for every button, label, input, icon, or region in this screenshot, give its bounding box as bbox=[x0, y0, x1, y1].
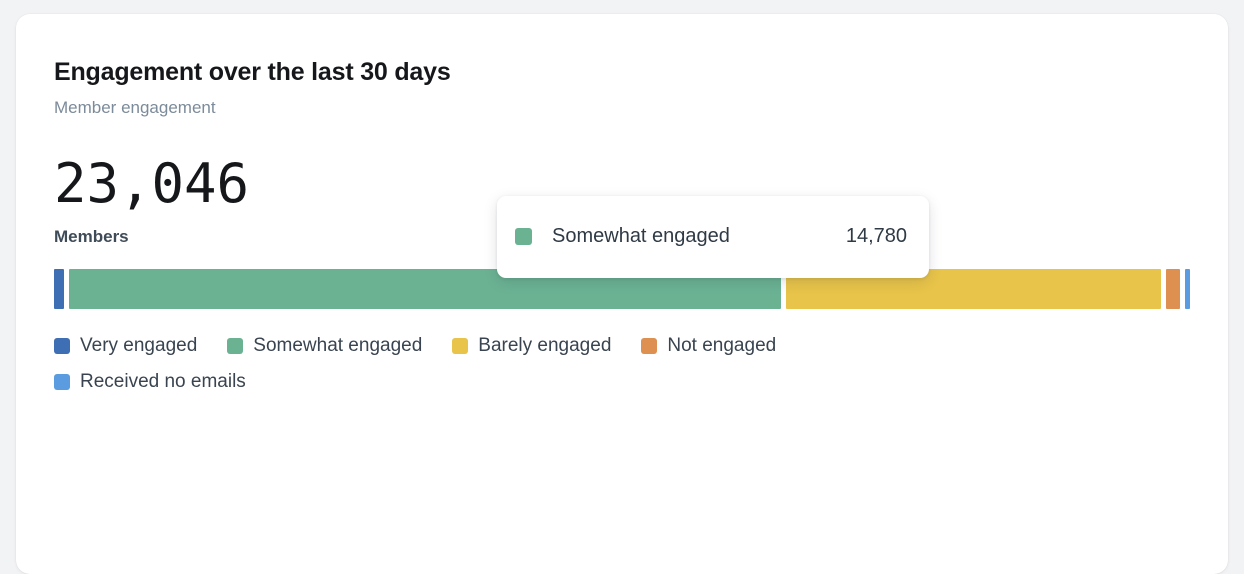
legend-item-somewhat-engaged[interactable]: Somewhat engaged bbox=[227, 335, 422, 357]
card-content: Engagement over the last 30 days Member … bbox=[16, 14, 1228, 574]
legend-color-swatch bbox=[227, 338, 243, 354]
legend-color-swatch bbox=[54, 338, 70, 354]
legend-item-not-engaged[interactable]: Not engaged bbox=[641, 335, 776, 357]
legend-item-very-engaged[interactable]: Very engaged bbox=[54, 335, 197, 357]
legend-item-label: Very engaged bbox=[80, 335, 197, 357]
tooltip-color-swatch bbox=[515, 228, 532, 245]
bar-segment-not-engaged[interactable] bbox=[1166, 269, 1180, 309]
card-subtitle: Member engagement bbox=[54, 98, 1190, 118]
bar-segment-received-no-emails[interactable] bbox=[1185, 269, 1190, 309]
page-title: Engagement over the last 30 days bbox=[54, 58, 1190, 87]
legend-item-label: Received no emails bbox=[80, 371, 246, 393]
legend-color-swatch bbox=[452, 338, 468, 354]
legend-item-received-no-emails[interactable]: Received no emails bbox=[54, 371, 246, 393]
legend-item-label: Not engaged bbox=[667, 335, 776, 357]
legend-color-swatch bbox=[641, 338, 657, 354]
tooltip-series-value: 14,780 bbox=[806, 225, 907, 248]
engagement-card: Engagement over the last 30 days Member … bbox=[16, 14, 1228, 574]
legend-item-label: Somewhat engaged bbox=[253, 335, 422, 357]
chart-tooltip: Somewhat engaged 14,780 bbox=[497, 196, 929, 278]
tooltip-series-label: Somewhat engaged bbox=[552, 225, 730, 248]
legend-item-barely-engaged[interactable]: Barely engaged bbox=[452, 335, 611, 357]
engagement-bar-chart: Somewhat engaged 14,780 bbox=[54, 269, 1183, 309]
legend-item-label: Barely engaged bbox=[478, 335, 611, 357]
legend-color-swatch bbox=[54, 374, 70, 390]
chart-legend: Very engagedSomewhat engagedBarely engag… bbox=[54, 335, 1014, 393]
bar-segment-very-engaged[interactable] bbox=[54, 269, 64, 309]
